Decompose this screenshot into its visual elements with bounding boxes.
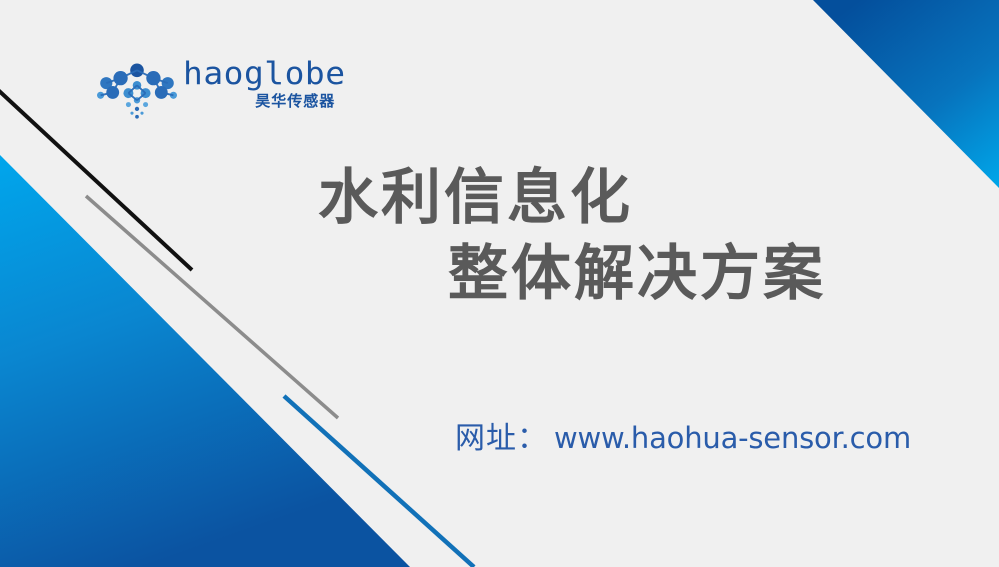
page-title-line-1: 水利信息化 bbox=[0, 160, 999, 236]
logo-text-block: haoglobe 昊华传感器 bbox=[183, 57, 336, 110]
logo-subtext-chinese: 昊华传感器 bbox=[255, 92, 335, 110]
page-title: 水利信息化 整体解决方案 bbox=[0, 160, 999, 312]
website-label: 网址： bbox=[455, 420, 548, 458]
company-logo: haoglobe 昊华传感器 bbox=[97, 57, 322, 119]
website-url[interactable]: www.haohua-sensor.com bbox=[554, 419, 911, 457]
page-title-line-2: 整体解决方案 bbox=[0, 236, 999, 312]
title-slide: haoglobe 昊华传感器 水利信息化 整体解决方案 网址： www.haoh… bbox=[0, 0, 999, 567]
website-line: 网址： www.haohua-sensor.com bbox=[455, 419, 911, 458]
haoglobe-network-logo-icon bbox=[97, 63, 177, 119]
logo-wordmark: haoglobe bbox=[183, 57, 346, 91]
